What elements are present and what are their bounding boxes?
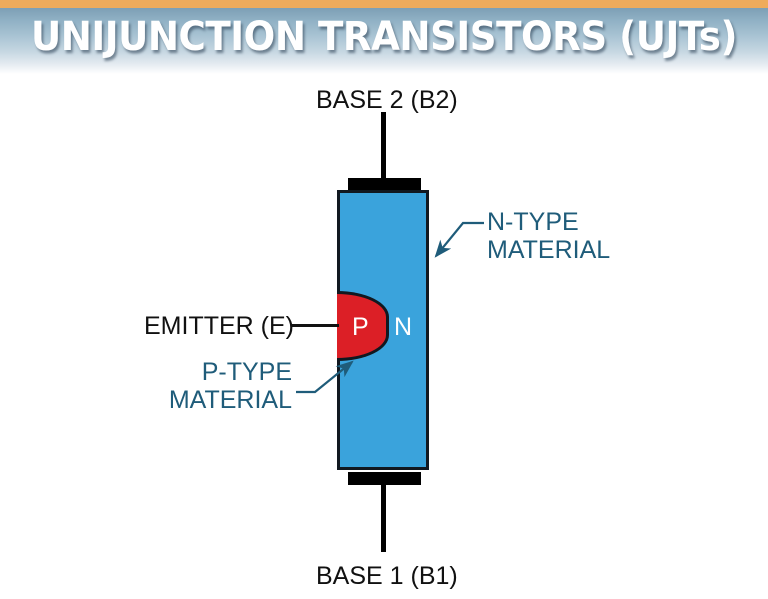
slide-canvas: UNIJUNCTION TRANSISTORS (UJTs) BASE 2 (B… xyxy=(0,0,768,599)
ujt-diagram: BASE 2 (B2) P N BASE 1 (B1) EMITTER (E) … xyxy=(0,74,768,599)
n-type-leader-line xyxy=(436,223,484,256)
callout-leader-lines xyxy=(0,74,768,599)
page-title: UNIJUNCTION TRANSISTORS (UJTs) xyxy=(27,8,741,68)
p-type-leader-line xyxy=(296,362,352,392)
top-accent-bar xyxy=(0,0,768,8)
